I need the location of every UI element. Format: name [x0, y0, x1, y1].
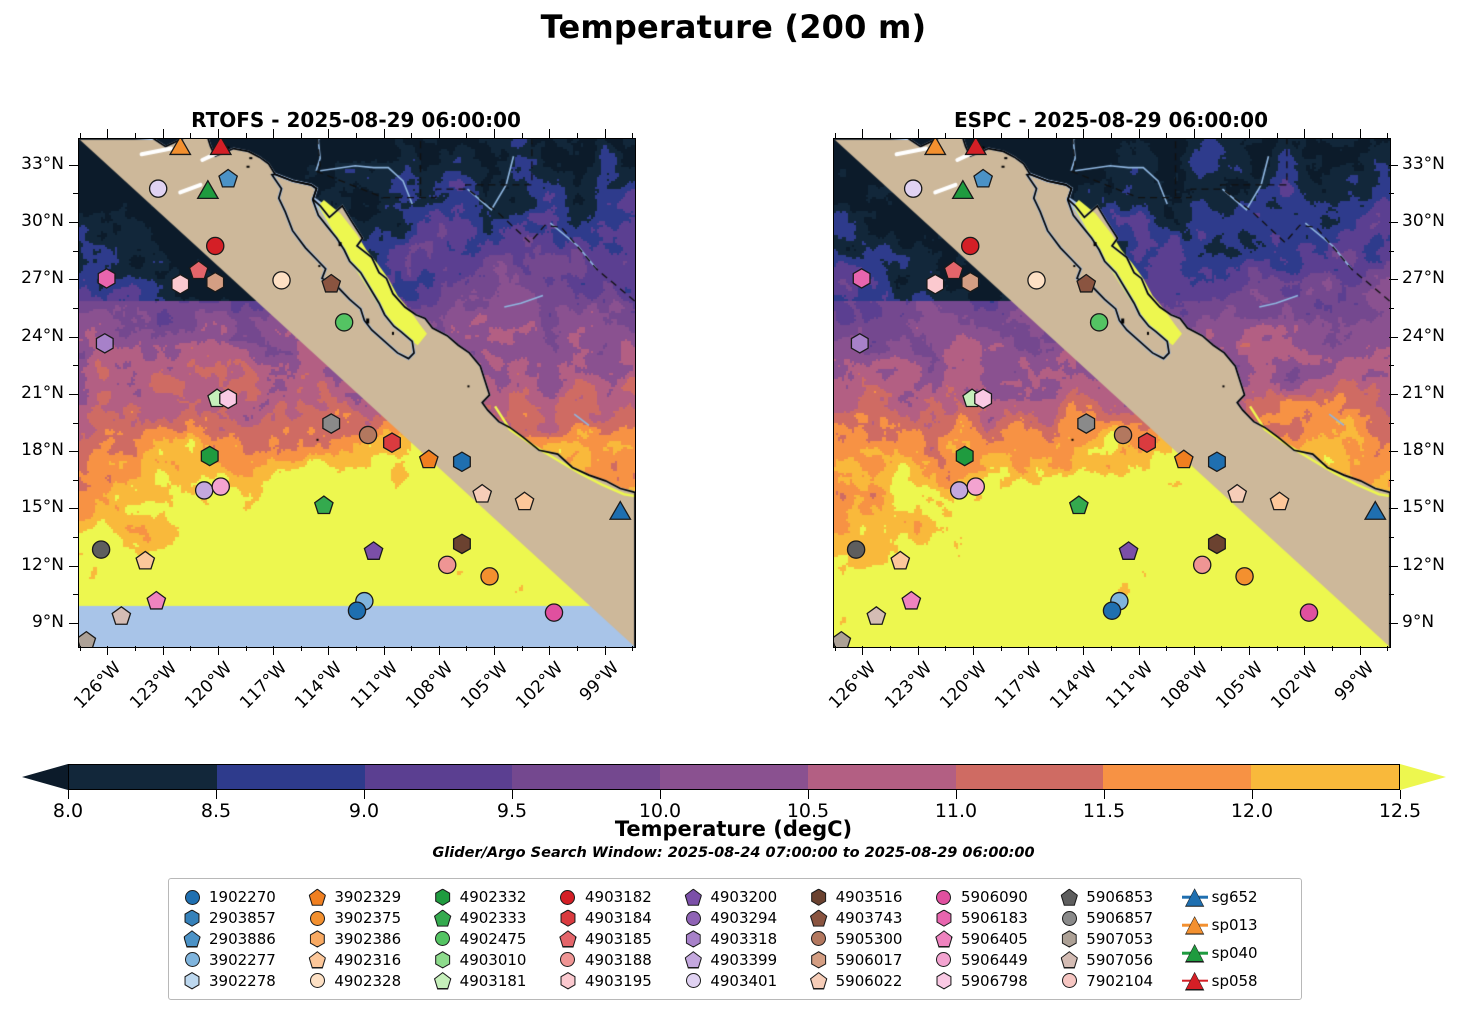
- legend-item[interactable]: 5906405: [931, 929, 1056, 949]
- legend-item[interactable]: 3902386: [304, 929, 429, 949]
- legend-label: 3902329: [334, 888, 401, 906]
- legend-marker-circle-icon: [555, 887, 581, 907]
- legend-column: 59068535906857590705359070567902104: [1056, 887, 1181, 991]
- legend-item[interactable]: 4903318: [680, 929, 805, 949]
- map-marker-4903185[interactable]: [190, 261, 208, 278]
- y-tick-label: 21°N: [1402, 383, 1445, 403]
- y-tick-major: [69, 222, 78, 223]
- legend-label: 4903399: [710, 951, 777, 969]
- x-tick-label: 102°W: [1262, 658, 1323, 719]
- map-marker-1902270[interactable]: [454, 452, 471, 471]
- legend-label: 5906405: [961, 930, 1028, 948]
- map-marker-5906798[interactable]: [220, 389, 237, 408]
- legend-item[interactable]: 4902328: [304, 971, 429, 991]
- legend-label: 5906853: [1086, 888, 1153, 906]
- legend-item[interactable]: sp058: [1182, 971, 1291, 991]
- legend-item[interactable]: 5906090: [931, 887, 1056, 907]
- legend-item[interactable]: 4903185: [555, 929, 680, 949]
- legend-item[interactable]: 5907056: [1056, 950, 1181, 970]
- legend-marker-circle-icon: [1056, 971, 1082, 991]
- y-tick-major: [69, 394, 78, 395]
- map-marker-5906017[interactable]: [207, 273, 224, 292]
- map-marker-4903184[interactable]: [384, 433, 401, 452]
- map-marker-4902475[interactable]: [336, 314, 353, 331]
- legend-item[interactable]: 5906857: [1056, 908, 1181, 928]
- legend-label: 4903401: [710, 972, 777, 990]
- legend-label: 5906090: [961, 888, 1028, 906]
- legend-marker-hexagon-icon: [555, 908, 581, 928]
- map-marker-3902329[interactable]: [420, 450, 438, 467]
- legend-item[interactable]: 5906022: [806, 971, 931, 991]
- colorbar-segment: [217, 765, 365, 789]
- legend-item[interactable]: 5906183: [931, 908, 1056, 928]
- y-tick-label: 12°N: [1402, 555, 1445, 575]
- y-tick-label: 24°N: [1402, 326, 1445, 346]
- legend-label: 4902333: [460, 909, 527, 927]
- map-marker-5906853[interactable]: [92, 541, 109, 558]
- y-tick-major: [69, 279, 78, 280]
- map-marker-5907056[interactable]: [112, 607, 130, 624]
- map-marker-4903399[interactable]: [196, 482, 213, 499]
- legend-label: 4903743: [836, 909, 903, 927]
- y-tick-label: 30°N: [1402, 211, 1445, 231]
- figure-title: Temperature (200 m): [0, 8, 1467, 46]
- legend-column: 49031824903184490318549031884903195: [555, 887, 680, 991]
- colorbar-tick: [216, 790, 217, 799]
- map-marker-4903195[interactable]: [172, 275, 189, 294]
- map-marker-4903743[interactable]: [322, 275, 340, 292]
- legend-item[interactable]: 4903401: [680, 971, 805, 991]
- x-tick-label: 114°W: [1041, 658, 1102, 719]
- map-marker-sp013[interactable]: [170, 139, 190, 154]
- y-tick-label: 18°N: [1402, 440, 1445, 460]
- legend-label: 4903195: [585, 972, 652, 990]
- x-tick-label: 108°W: [1151, 658, 1212, 719]
- map-marker-5906183[interactable]: [98, 269, 115, 288]
- legend-column: 39023293902375390238649023164902328: [304, 887, 429, 991]
- y-tick-label: 15°N: [1402, 497, 1445, 517]
- map-marker-4903401[interactable]: [905, 180, 922, 197]
- legend-label: 4903294: [710, 909, 777, 927]
- legend-marker-pentagon-icon: [304, 887, 330, 907]
- map-marker-sg652[interactable]: [610, 502, 630, 520]
- x-tick-label: 102°W: [507, 658, 568, 719]
- map-marker-1902270[interactable]: [1209, 452, 1226, 471]
- map-marker-4903182[interactable]: [207, 237, 224, 254]
- colorbar-segment: [1103, 765, 1251, 789]
- legend-label: 1902270: [209, 888, 276, 906]
- legend-column: 49035164903743590530059060175906022: [806, 887, 931, 991]
- colorbar-segment: [1251, 765, 1399, 789]
- legend-item[interactable]: 4903184: [555, 908, 680, 928]
- legend-marker-hexagon-icon: [430, 950, 456, 970]
- legend-column: 19022702903857290388639022773902278: [179, 887, 304, 991]
- legend-label: 4903010: [460, 951, 527, 969]
- map-marker-4902332[interactable]: [201, 446, 218, 465]
- map-marker-5906405[interactable]: [147, 592, 165, 609]
- legend-label: sg652: [1212, 888, 1258, 906]
- map-marker-5907053[interactable]: [834, 632, 851, 647]
- colorbar-tick: [512, 790, 513, 799]
- legend-marker-pentagon-icon: [1056, 950, 1082, 970]
- y-tick-label: 33°N: [1402, 154, 1445, 174]
- colorbar-extend-high: [1400, 764, 1446, 790]
- map-marker-5905300[interactable]: [1114, 426, 1131, 443]
- map-marker-4902316b[interactable]: [891, 551, 909, 568]
- map-marker-sp040[interactable]: [953, 181, 973, 199]
- x-tick-label: 120°W: [175, 658, 236, 719]
- legend-item[interactable]: 5906449: [931, 950, 1056, 970]
- legend-marker-circle-icon: [680, 908, 706, 928]
- legend-item[interactable]: 2903857: [179, 908, 304, 928]
- map-marker-4903318[interactable]: [96, 334, 113, 353]
- colorbar-body: [68, 764, 1400, 790]
- legend-item[interactable]: 1902270: [179, 887, 304, 907]
- y-tick-label: 12°N: [0, 555, 64, 575]
- y-tick-label: 27°N: [1402, 268, 1445, 288]
- map-marker-5906857[interactable]: [323, 414, 340, 433]
- map-marker-3902375[interactable]: [481, 568, 498, 585]
- legend-marker-pentagon-icon: [806, 971, 832, 991]
- legend-item[interactable]: 2903886: [179, 929, 304, 949]
- colorbar-tick: [1104, 790, 1105, 799]
- legend-marker-hexagon-icon: [680, 929, 706, 949]
- legend-label: 4902475: [460, 930, 527, 948]
- colorbar-tick: [956, 790, 957, 799]
- legend-item[interactable]: sg652: [1182, 887, 1291, 907]
- map-marker-5906090[interactable]: [1300, 604, 1317, 621]
- x-tick-label: 99°W: [1317, 658, 1378, 719]
- map-marker-4903185[interactable]: [945, 261, 963, 278]
- legend-label: sp040: [1212, 944, 1258, 962]
- legend-label: sp013: [1212, 916, 1258, 934]
- map-marker-5906017[interactable]: [962, 273, 979, 292]
- legend-marker-pentagon-icon: [555, 929, 581, 949]
- legend-marker-circle-icon: [304, 971, 330, 991]
- map-marker-4903195[interactable]: [927, 275, 944, 294]
- map-marker-3902375[interactable]: [1236, 568, 1253, 585]
- x-tick-label: 105°W: [1206, 658, 1267, 719]
- legend-marker-triangle-icon: [1182, 971, 1208, 991]
- legend-label: 5907053: [1086, 930, 1153, 948]
- legend-label: 5905300: [836, 930, 903, 948]
- colorbar-tick: [364, 790, 365, 799]
- map-marker-5906857[interactable]: [1078, 414, 1095, 433]
- legend-label: 5906857: [1086, 909, 1153, 927]
- legend-item[interactable]: 3902277: [179, 950, 304, 970]
- legend-item[interactable]: 4903182: [555, 887, 680, 907]
- x-tick-label: 111°W: [341, 658, 402, 719]
- map-marker-4902332[interactable]: [956, 446, 973, 465]
- legend-item[interactable]: 5905300: [806, 929, 931, 949]
- legend-label: 4903181: [460, 972, 527, 990]
- legend-marker-circle-icon: [304, 908, 330, 928]
- legend-item[interactable]: 5906798: [931, 971, 1056, 991]
- panel-left-header: RTOFS - 2025-08-29 06:00:00: [78, 138, 634, 139]
- legend-item[interactable]: 5906017: [806, 950, 931, 970]
- panel-right-header: ESPC - 2025-08-29 06:00:00: [833, 138, 1389, 139]
- colorbar-extend-low: [22, 764, 68, 790]
- legend-label: 5906183: [961, 909, 1028, 927]
- legend-marker-circle-icon: [680, 971, 706, 991]
- map-marker-4902328[interactable]: [1028, 272, 1045, 289]
- x-tick-label: 117°W: [230, 658, 291, 719]
- search-window-note: Glider/Argo Search Window: 2025-08-24 07…: [0, 845, 1467, 861]
- map-marker-5905300[interactable]: [359, 426, 376, 443]
- legend-item[interactable]: 4903743: [806, 908, 931, 928]
- legend-marker-circle-icon: [806, 929, 832, 949]
- y-tick-major: [69, 623, 78, 624]
- legend-marker-hexagon-icon: [1056, 929, 1082, 949]
- legend-marker-circle-icon: [1056, 908, 1082, 928]
- legend-label: sp058: [1212, 972, 1258, 990]
- map-panel-rtofs[interactable]: [78, 138, 636, 648]
- platform-legend[interactable]: 1902270290385729038863902277390227839023…: [168, 878, 1302, 1000]
- y-tick-label: 27°N: [0, 268, 64, 288]
- legend-label: 5906798: [961, 972, 1028, 990]
- colorbar-tick: [808, 790, 809, 799]
- legend-label: 3902386: [334, 930, 401, 948]
- map-marker-4903188[interactable]: [439, 556, 456, 573]
- legend-column: 59060905906183590640559064495906798: [931, 887, 1056, 991]
- map-marker-4903200[interactable]: [1119, 542, 1137, 559]
- legend-marker-pentagon-icon: [680, 887, 706, 907]
- y-tick-major: [69, 451, 78, 452]
- colorbar-tick: [1252, 790, 1253, 799]
- legend-label: 5906022: [836, 972, 903, 990]
- legend-marker-pentagon-icon: [179, 929, 205, 949]
- colorbar-segment: [660, 765, 808, 789]
- legend-item[interactable]: sp013: [1182, 915, 1291, 935]
- legend-item[interactable]: sp040: [1182, 943, 1291, 963]
- legend-item[interactable]: 4903181: [430, 971, 555, 991]
- colorbar-tick: [68, 790, 69, 799]
- legend-item[interactable]: 4902475: [430, 929, 555, 949]
- x-tick-label: 111°W: [1096, 658, 1157, 719]
- legend-label: 4902332: [460, 888, 527, 906]
- legend-marker-triangle-icon: [1182, 915, 1208, 935]
- map-marker-4902316[interactable]: [515, 492, 533, 509]
- y-tick-label: 15°N: [0, 497, 64, 517]
- legend-marker-pentagon-icon: [680, 950, 706, 970]
- legend-label: 4902328: [334, 972, 401, 990]
- x-tick-label: 99°W: [562, 658, 623, 719]
- map-marker-5906798[interactable]: [975, 389, 992, 408]
- legend-label: 2903857: [209, 909, 276, 927]
- map-marker-4903516[interactable]: [454, 534, 471, 553]
- legend-item[interactable]: 4903010: [430, 950, 555, 970]
- map-marker-4903188[interactable]: [1194, 556, 1211, 573]
- legend-item[interactable]: 5906853: [1056, 887, 1181, 907]
- legend-item[interactable]: 3902278: [179, 971, 304, 991]
- legend-column: sg652sp013sp040sp058: [1182, 887, 1291, 991]
- map-markers-espc: [834, 139, 1390, 647]
- map-marker-4902475[interactable]: [1091, 314, 1108, 331]
- legend-marker-hexagon-icon: [806, 887, 832, 907]
- x-tick-label: 120°W: [930, 658, 991, 719]
- x-tick-label: 117°W: [985, 658, 1046, 719]
- legend-item[interactable]: 4902316: [304, 950, 429, 970]
- map-marker-sp040[interactable]: [198, 181, 218, 199]
- legend-label: 4902316: [334, 951, 401, 969]
- legend-item[interactable]: 4903516: [806, 887, 931, 907]
- map-marker-5906183[interactable]: [853, 269, 870, 288]
- legend-label: 4903184: [585, 909, 652, 927]
- legend-item[interactable]: 4903188: [555, 950, 680, 970]
- colorbar-title: Temperature (degC): [0, 817, 1467, 841]
- y-tick-label: 9°N: [1402, 612, 1434, 632]
- legend-marker-hexagon-icon: [931, 908, 957, 928]
- legend-marker-hexagon-icon: [555, 971, 581, 991]
- legend-item[interactable]: 4903294: [680, 908, 805, 928]
- x-tick-label: 123°W: [120, 658, 181, 719]
- map-marker-5907053[interactable]: [79, 632, 96, 647]
- legend-item[interactable]: 4903195: [555, 971, 680, 991]
- legend-marker-triangle-icon: [1182, 943, 1208, 963]
- legend-marker-pentagon-icon: [304, 950, 330, 970]
- legend-label: 4903516: [836, 888, 903, 906]
- legend-marker-pentagon-icon: [430, 971, 456, 991]
- map-marker-5906090[interactable]: [545, 604, 562, 621]
- y-tick-label: 9°N: [0, 612, 64, 632]
- map-marker-sp058[interactable]: [966, 139, 986, 154]
- legend-label: 5906449: [961, 951, 1028, 969]
- legend-marker-hexagon-icon: [304, 929, 330, 949]
- legend-marker-hexagon-icon: [179, 908, 205, 928]
- legend-label: 2903886: [209, 930, 276, 948]
- colorbar-segment: [512, 765, 660, 789]
- map-marker-5906022[interactable]: [473, 485, 491, 502]
- y-tick-major: [69, 566, 78, 567]
- legend-marker-pentagon-icon: [806, 908, 832, 928]
- map-marker-4903743[interactable]: [1077, 275, 1095, 292]
- legend-item[interactable]: 4903200: [680, 887, 805, 907]
- map-marker-4903516[interactable]: [1209, 534, 1226, 553]
- map-marker-sp013[interactable]: [925, 139, 945, 154]
- map-marker-4902333[interactable]: [315, 496, 333, 513]
- y-tick-label: 33°N: [0, 154, 64, 174]
- legend-marker-hexagon-icon: [806, 950, 832, 970]
- map-marker-sp058[interactable]: [211, 139, 231, 154]
- legend-marker-circle-icon: [931, 887, 957, 907]
- y-tick-label: 30°N: [0, 211, 64, 231]
- x-tick-label: 108°W: [396, 658, 457, 719]
- map-marker-5906853[interactable]: [847, 541, 864, 558]
- x-tick-label: 114°W: [286, 658, 347, 719]
- legend-marker-circle-icon: [555, 950, 581, 970]
- map-marker-5906022[interactable]: [1228, 485, 1246, 502]
- colorbar-segment: [365, 765, 513, 789]
- y-tick-major: [69, 337, 78, 338]
- colorbar-segment: [808, 765, 956, 789]
- legend-column: 49023324902333490247549030104903181: [430, 887, 555, 991]
- legend-label: 4903200: [710, 888, 777, 906]
- y-tick-label: 24°N: [0, 326, 64, 346]
- y-tick-major: [69, 508, 78, 509]
- legend-marker-pentagon-icon: [931, 929, 957, 949]
- colorbar-segment: [69, 765, 217, 789]
- legend-item[interactable]: 5907053: [1056, 929, 1181, 949]
- legend-marker-circle-icon: [430, 929, 456, 949]
- legend-item[interactable]: 7902104: [1056, 971, 1181, 991]
- legend-marker-hexagon-icon: [931, 971, 957, 991]
- map-marker-4903401[interactable]: [150, 180, 167, 197]
- map-marker-4903399[interactable]: [951, 482, 968, 499]
- panel-title-rtofs: RTOFS - 2025-08-29 06:00:00: [78, 108, 634, 132]
- map-marker-4903182[interactable]: [962, 237, 979, 254]
- legend-label: 5907056: [1086, 951, 1153, 969]
- map-marker-4903318[interactable]: [851, 334, 868, 353]
- map-panel-espc[interactable]: [833, 138, 1391, 648]
- legend-item[interactable]: 4903399: [680, 950, 805, 970]
- map-markers-rtofs: [79, 139, 635, 647]
- legend-label: 7902104: [1086, 972, 1153, 990]
- legend-item[interactable]: 3902375: [304, 908, 429, 928]
- map-marker-4902316b[interactable]: [136, 551, 154, 568]
- map-marker-4903184[interactable]: [1139, 433, 1156, 452]
- legend-label: 4903185: [585, 930, 652, 948]
- map-marker-4903200[interactable]: [364, 542, 382, 559]
- map-marker-1902270b[interactable]: [348, 602, 365, 619]
- legend-label: 4903318: [710, 930, 777, 948]
- x-tick-label: 105°W: [451, 658, 512, 719]
- legend-item[interactable]: 3902329: [304, 887, 429, 907]
- legend-label: 3902278: [209, 972, 276, 990]
- legend-marker-hexagon-icon: [430, 887, 456, 907]
- panel-title-espc: ESPC - 2025-08-29 06:00:00: [833, 108, 1389, 132]
- colorbar-tick: [660, 790, 661, 799]
- colorbar[interactable]: 8.08.59.09.510.010.511.011.512.012.5: [22, 764, 1446, 794]
- legend-label: 3902277: [209, 951, 276, 969]
- legend-item[interactable]: 4902333: [430, 908, 555, 928]
- map-marker-5906449[interactable]: [212, 478, 229, 495]
- map-marker-4902333[interactable]: [1070, 496, 1088, 513]
- legend-marker-circle-icon: [179, 887, 205, 907]
- colorbar-tick: [1400, 790, 1401, 799]
- map-marker-5907056[interactable]: [867, 607, 885, 624]
- legend-column: 49032004903294490331849033994903401: [680, 887, 805, 991]
- map-marker-3902329[interactable]: [1175, 450, 1193, 467]
- legend-marker-circle-icon: [931, 950, 957, 970]
- legend-label: 4903182: [585, 888, 652, 906]
- map-marker-4902328[interactable]: [273, 272, 290, 289]
- colorbar-segment: [956, 765, 1104, 789]
- legend-marker-hexagon-icon: [179, 971, 205, 991]
- map-marker-1902270b[interactable]: [1103, 602, 1120, 619]
- y-tick-major: [69, 165, 78, 166]
- map-marker-5906449[interactable]: [967, 478, 984, 495]
- legend-marker-triangle-icon: [1182, 887, 1208, 907]
- x-tick-label: 123°W: [875, 658, 936, 719]
- y-tick-label: 21°N: [0, 383, 64, 403]
- x-tick-label: 126°W: [820, 658, 881, 719]
- map-marker-sg652[interactable]: [1365, 502, 1385, 520]
- legend-marker-pentagon-icon: [1056, 887, 1082, 907]
- legend-marker-pentagon-icon: [430, 908, 456, 928]
- x-tick-label: 126°W: [65, 658, 126, 719]
- legend-marker-circle-icon: [179, 950, 205, 970]
- map-marker-4902316[interactable]: [1270, 492, 1288, 509]
- legend-label: 3902375: [334, 909, 401, 927]
- legend-label: 4903188: [585, 951, 652, 969]
- y-tick-label: 18°N: [0, 440, 64, 460]
- map-marker-2903886[interactable]: [219, 169, 237, 186]
- legend-label: 5906017: [836, 951, 903, 969]
- map-marker-2903886[interactable]: [974, 169, 992, 186]
- legend-item[interactable]: 4902332: [430, 887, 555, 907]
- map-marker-5906405[interactable]: [902, 592, 920, 609]
